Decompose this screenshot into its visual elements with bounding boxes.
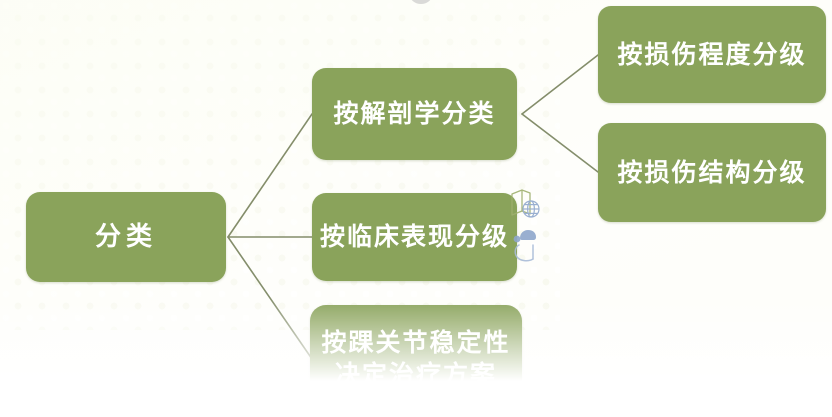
node-injury-severity-grading[interactable]: 按损伤程度分级 (598, 6, 826, 103)
connector-root-to-anatomy (228, 114, 312, 237)
node-root-classification[interactable]: 分类 (26, 192, 226, 282)
node-stability-line-1: 按踝关节稳定性 (321, 329, 510, 357)
node-clinical-manifestation-grading[interactable]: 按临床表现分级 (312, 193, 517, 281)
node-ankle-stability-treatment[interactable]: 按踝关节稳定性 决定治疗方案 (310, 305, 522, 413)
node-injury-structure-grading[interactable]: 按损伤结构分级 (598, 123, 826, 222)
connector-anatomy-to-severity (522, 55, 598, 114)
grey-dot-partial-icon (408, 0, 434, 11)
connector-anatomy-to-structure (522, 114, 598, 172)
diagram-canvas: 分类 按解剖学分类 按临床表现分级 按踝关节稳定性 决定治疗方案 按损伤程度分级… (0, 0, 832, 417)
node-stability-line-2: 决定治疗方案 (321, 359, 510, 391)
connector-root-to-stability (228, 237, 312, 359)
node-anatomical-classification[interactable]: 按解剖学分类 (312, 68, 517, 160)
